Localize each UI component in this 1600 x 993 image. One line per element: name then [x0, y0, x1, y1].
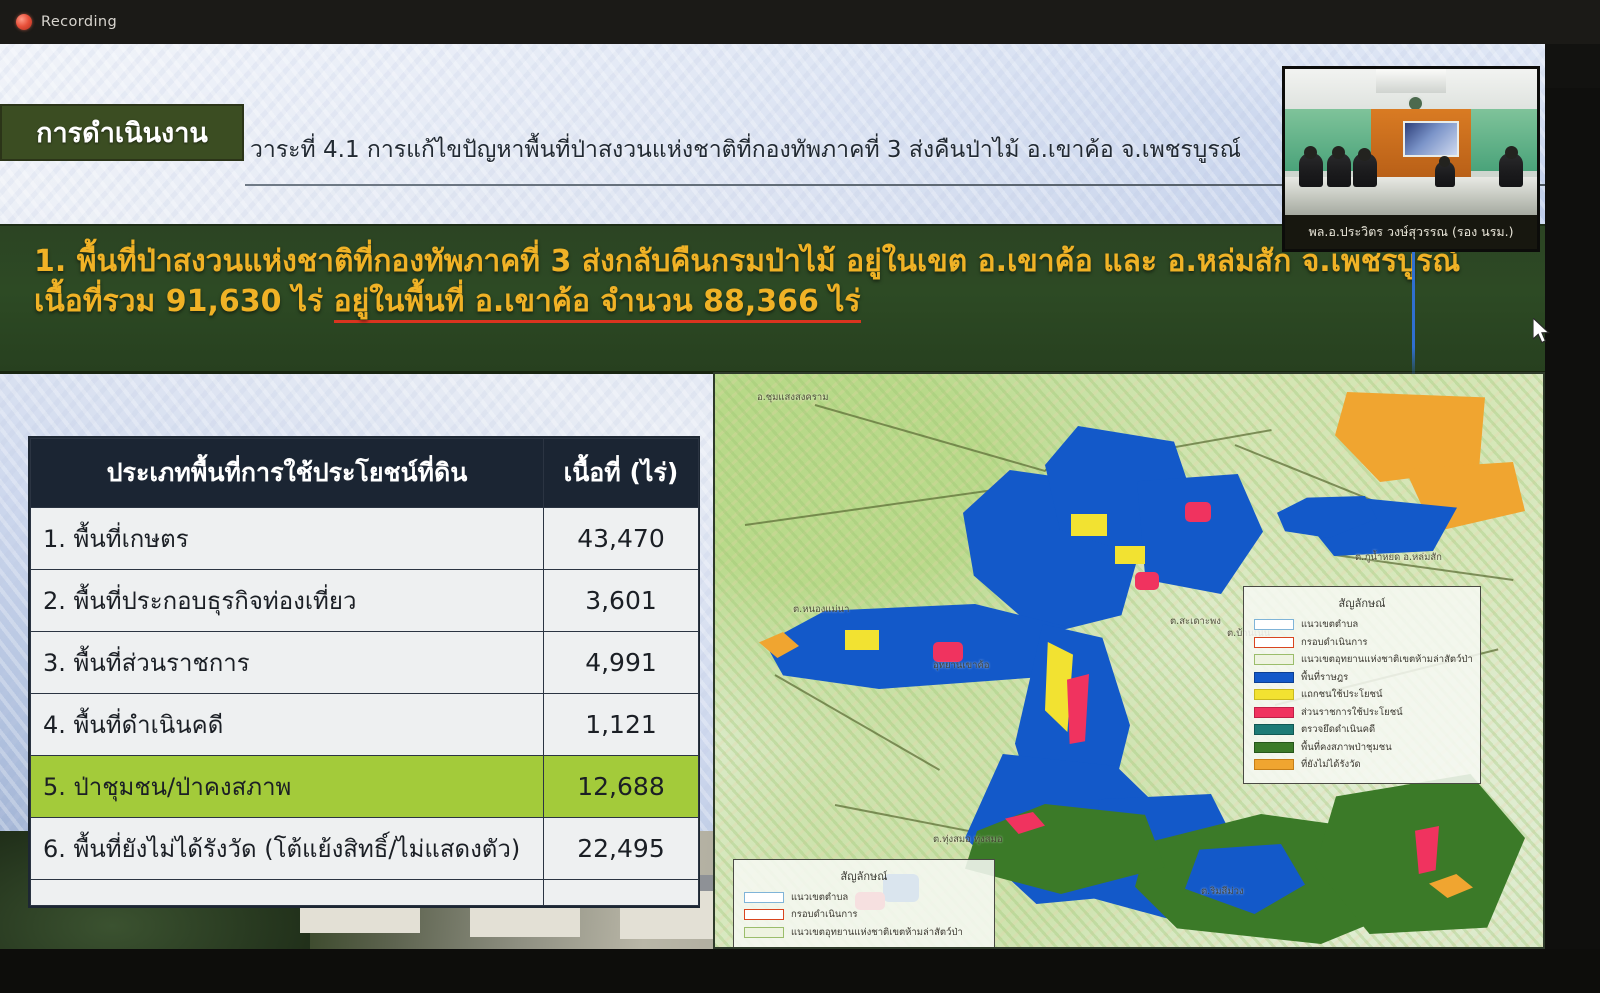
map-legend-swatch [1254, 654, 1294, 665]
map-legend-label: ที่ยังไม่ได้รังวัด [1301, 757, 1361, 772]
map-place-label: ต.ภูน้ำหยด อ.หล่มสัก [1355, 550, 1442, 565]
table-cell-category: 3. พื้นที่ส่วนราชการ [31, 632, 544, 694]
map-legend-label: แนวเขตอุทยานแห่งชาติเขตห้ามล่าสัตว์ป่า [1301, 652, 1473, 667]
callout-line-2-prefix: เนื้อที่รวม 91,630 ไร่ [34, 284, 334, 319]
section-badge: การดำเนินงาน [0, 104, 244, 161]
map-legend-row: ส่วนราชการใช้ประโยชน์ [1254, 705, 1470, 720]
table-row-spacer [31, 880, 699, 906]
map-legend-label: พื้นที่คงสภาพป่าชุมชน [1301, 740, 1392, 755]
table-row: 6. พื้นที่ยังไม่ได้รังวัด (โต้แย้งสิทธิ์… [31, 818, 699, 880]
map-legend-secondary-rows: แนวเขตตำบลกรอบดำเนินการแนวเขตอุทยานแห่งช… [744, 890, 984, 940]
room-display-screen [1403, 121, 1458, 157]
map-legend-swatch [1254, 724, 1294, 735]
recording-label: Recording [41, 14, 117, 30]
map-area-government [1415, 826, 1439, 874]
map-area-government [1135, 572, 1159, 590]
map-legend-secondary-title: สัญลักษณ์ [744, 867, 984, 885]
map-legend-label: แนวเขตตำบล [1301, 617, 1358, 632]
map-place-label: อ.ชุมแสงสงคราม [757, 390, 829, 405]
table-header-category: ประเภทพื้นที่การใช้ประโยชน์ที่ดิน [31, 439, 544, 508]
attendee-head [1304, 146, 1317, 159]
stage-right-gutter [1545, 88, 1600, 949]
map-legend-row: ตรวจยึดดำเนินคดี [1254, 722, 1470, 737]
map-area-utilized [845, 630, 879, 650]
map-place-label: ต.สะเดาะพง [1170, 614, 1221, 629]
attendee-head [1358, 148, 1371, 161]
table-cell-empty [544, 880, 699, 906]
map-legend-label: แถกชนใช้ประโยชน์ [1301, 687, 1383, 702]
map-legend-row: แนวเขตตำบล [744, 890, 984, 905]
map-legend-row: กรอบดำเนินการ [744, 907, 984, 922]
map-legend-row: แนวเขตอุทยานแห่งชาติเขตห้ามล่าสัตว์ป่า [1254, 652, 1470, 667]
callout-line-2: เนื้อที่รวม 91,630 ไร่ อยู่ในพื้นที่ อ.เ… [34, 282, 1523, 322]
map-legend-row: กรอบดำเนินการ [1254, 635, 1470, 650]
map-legend-row: พื้นที่ราษฎร [1254, 670, 1470, 685]
attendee-head [1332, 146, 1345, 159]
map-legend-secondary: สัญลักษณ์ แนวเขตตำบลกรอบดำเนินการแนวเขตอ… [733, 859, 995, 950]
table-row: 2. พื้นที่ประกอบธุรกิจท่องเที่ยว3,601 [31, 570, 699, 632]
annotation-line [1412, 252, 1415, 374]
map-legend-main-rows: แนวเขตตำบลกรอบดำเนินการแนวเขตอุทยานแห่งช… [1254, 617, 1470, 772]
attendee-head [1439, 156, 1450, 167]
presentation-slide-stage: การดำเนินงาน วาระที่ 4.1 การแก้ไขปัญหาพื… [0, 44, 1600, 949]
map-legend-row: พื้นที่คงสภาพป่าชุมชน [1254, 740, 1470, 755]
table-cell-category: 4. พื้นที่ดำเนินคดี [31, 694, 544, 756]
video-feed [1285, 69, 1537, 221]
map-legend-swatch [744, 927, 784, 938]
table-cell-category: 2. พื้นที่ประกอบธุรกิจท่องเที่ยว [31, 570, 544, 632]
table-cell-category: 5. ป่าชุมชน/ป่าคงสภาพ [31, 756, 544, 818]
table-cell-area: 22,495 [544, 818, 699, 880]
map-place-label: ต.ริมสีม่วง [1201, 884, 1244, 899]
bottom-letterbox [0, 949, 1600, 993]
table-body: 1. พื้นที่เกษตร43,4702. พื้นที่ประกอบธุร… [31, 508, 699, 906]
table-row: 5. ป่าชุมชน/ป่าคงสภาพ12,688 [31, 756, 699, 818]
table-cell-area: 12,688 [544, 756, 699, 818]
map-legend-row: แถกชนใช้ประโยชน์ [1254, 687, 1470, 702]
map-place-label: ต.หนองแม่นา [793, 602, 850, 617]
recording-indicator-icon [16, 14, 32, 30]
recording-status-bar: Recording [0, 0, 1600, 44]
table-row: 3. พื้นที่ส่วนราชการ4,991 [31, 632, 699, 694]
map-legend-main-title: สัญลักษณ์ [1254, 594, 1470, 612]
table-cell-category: 1. พื้นที่เกษตร [31, 508, 544, 570]
table-cell-area: 3,601 [544, 570, 699, 632]
land-use-map: อ.ชุมแสงสงคราม ต.หนองแม่นา อุทยานเขาค้อ … [713, 372, 1545, 949]
attendee-head [1505, 146, 1518, 159]
land-use-table: ประเภทพื้นที่การใช้ประโยชน์ที่ดิน เนื้อท… [28, 436, 700, 908]
map-legend-swatch [1254, 672, 1294, 683]
map-legend-swatch [744, 892, 784, 903]
callout-line-2-highlight: อยู่ในพื้นที่ อ.เขาค้อ จำนวน 88,366 ไร่ [334, 284, 861, 323]
map-legend-swatch [1254, 707, 1294, 718]
map-legend-label: แนวเขตตำบล [791, 890, 848, 905]
map-legend-swatch [1254, 759, 1294, 770]
participant-name-bar: พล.อ.ประวิตร วงษ์สุวรรณ (รอง นรม.) [1285, 215, 1537, 249]
participant-name: พล.อ.ประวิตร วงษ์สุวรรณ (รอง นรม.) [1308, 222, 1513, 242]
land-use-table-element: ประเภทพื้นที่การใช้ประโยชน์ที่ดิน เนื้อท… [30, 438, 699, 906]
table-cell-empty [31, 880, 544, 906]
table-cell-area: 4,991 [544, 632, 699, 694]
table-row: 4. พื้นที่ดำเนินคดี1,121 [31, 694, 699, 756]
map-legend-label: ส่วนราชการใช้ประโยชน์ [1301, 705, 1403, 720]
map-legend-row: แนวเขตตำบล [1254, 617, 1470, 632]
table-header-row: ประเภทพื้นที่การใช้ประโยชน์ที่ดิน เนื้อท… [31, 439, 699, 508]
map-legend-label: ตรวจยึดดำเนินคดี [1301, 722, 1375, 737]
table-cell-area: 1,121 [544, 694, 699, 756]
table-cell-area: 43,470 [544, 508, 699, 570]
ceiling-duct [1376, 69, 1447, 93]
map-legend-swatch [1254, 689, 1294, 700]
section-badge-label: การดำเนินงาน [36, 111, 208, 154]
map-legend-label: พื้นที่ราษฎร [1301, 670, 1348, 685]
table-header-area: เนื้อที่ (ไร่) [544, 439, 699, 508]
table-head: ประเภทพื้นที่การใช้ประโยชน์ที่ดิน เนื้อท… [31, 439, 699, 508]
table-cell-category: 6. พื้นที่ยังไม่ได้รังวัด (โต้แย้งสิทธิ์… [31, 818, 544, 880]
map-legend-swatch [744, 909, 784, 920]
page-title: วาระที่ 4.1 การแก้ไขปัญหาพื้นที่ป่าสงวนแ… [250, 132, 1430, 172]
map-legend-label: กรอบดำเนินการ [1301, 635, 1368, 650]
map-area-utilized [1115, 546, 1145, 564]
map-legend-main: สัญลักษณ์ แนวเขตตำบลกรอบดำเนินการแนวเขตอ… [1243, 586, 1481, 784]
map-legend-swatch [1254, 619, 1294, 630]
map-area-government [1185, 502, 1211, 522]
map-area-utilized [1071, 514, 1107, 536]
map-legend-swatch [1254, 637, 1294, 648]
map-legend-row: ที่ยังไม่ได้รังวัด [1254, 757, 1470, 772]
map-legend-swatch [1254, 742, 1294, 753]
map-legend-row: แนวเขตอุทยานแห่งชาติเขตห้ามล่าสัตว์ป่า [744, 925, 984, 940]
map-place-label: อุทยานเขาค้อ [933, 658, 990, 673]
participant-video-tile[interactable]: พล.อ.ประวิตร วงษ์สุวรรณ (รอง นรม.) [1282, 66, 1540, 252]
map-place-label: ต.ทุ่งสมอ ทุ่งสมอ [933, 832, 1003, 847]
map-legend-label: แนวเขตอุทยานแห่งชาติเขตห้ามล่าสัตว์ป่า [791, 925, 963, 940]
map-legend-label: กรอบดำเนินการ [791, 907, 858, 922]
table-row: 1. พื้นที่เกษตร43,470 [31, 508, 699, 570]
